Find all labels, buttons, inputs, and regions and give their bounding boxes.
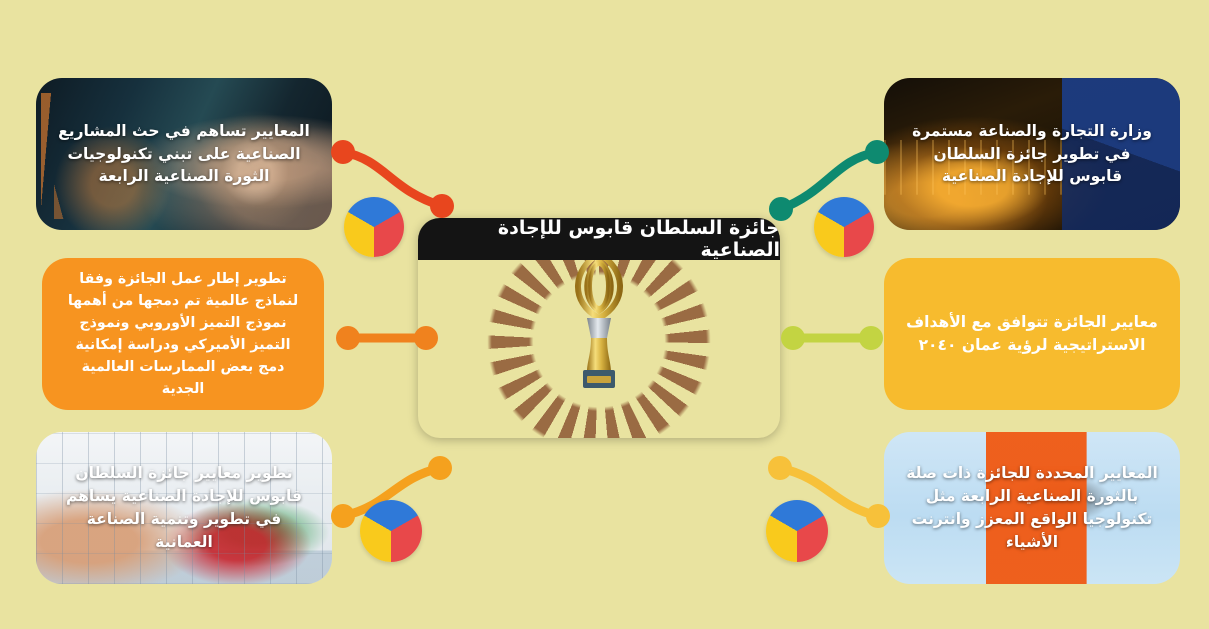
node-card-middle-left[interactable]: تطوير إطار عمل الجائزة وفقا لنماذج عالمي…	[42, 258, 324, 410]
node-text-middle-right: معايير الجائزة تتوافق مع الأهداف الاسترا…	[884, 301, 1180, 367]
node-text-bottom-right: المعايير المحددة للجائزة ذات صلة بالثورة…	[884, 452, 1180, 564]
center-title-bar: جائزة السلطان قابوس للإجادة الصناعية	[418, 218, 780, 260]
node-text-bottom-left: تطوير معايير جائزة السلطان قابوس للإجادة…	[36, 452, 332, 564]
node-text-middle-left: تطوير إطار عمل الجائزة وفقا لنماذج عالمي…	[42, 258, 324, 410]
node-card-middle-right[interactable]: معايير الجائزة تتوافق مع الأهداف الاسترا…	[884, 258, 1180, 410]
connector-middle-right	[775, 318, 885, 358]
connector-middle-left	[334, 318, 444, 358]
node-card-bottom-right[interactable]: المعايير المحددة للجائزة ذات صلة بالثورة…	[884, 432, 1180, 584]
pie-chart-icon-top-left	[344, 197, 404, 257]
node-card-bottom-left[interactable]: تطوير معايير جائزة السلطان قابوس للإجادة…	[36, 432, 332, 584]
pie-chart-icon-top-right	[814, 197, 874, 257]
node-card-top-right[interactable]: وزارة التجارة والصناعة مستمرة في تطوير ج…	[884, 78, 1180, 230]
node-text-top-left: المعايير تساهم في حث المشاريع الصناعية ع…	[36, 110, 332, 199]
infographic-canvas: المعايير تساهم في حث المشاريع الصناعية ع…	[0, 0, 1209, 629]
trophy-icon	[557, 246, 641, 396]
center-node[interactable]: جائزة السلطان قابوس للإجادة الصناعية	[418, 218, 780, 438]
pie-chart-icon-bottom-left	[360, 500, 422, 562]
node-card-top-left[interactable]: المعايير تساهم في حث المشاريع الصناعية ع…	[36, 78, 332, 230]
center-title: جائزة السلطان قابوس للإجادة الصناعية	[418, 218, 780, 261]
pie-chart-icon-bottom-right	[766, 500, 828, 562]
node-text-top-right: وزارة التجارة والصناعة مستمرة في تطوير ج…	[884, 110, 1180, 199]
